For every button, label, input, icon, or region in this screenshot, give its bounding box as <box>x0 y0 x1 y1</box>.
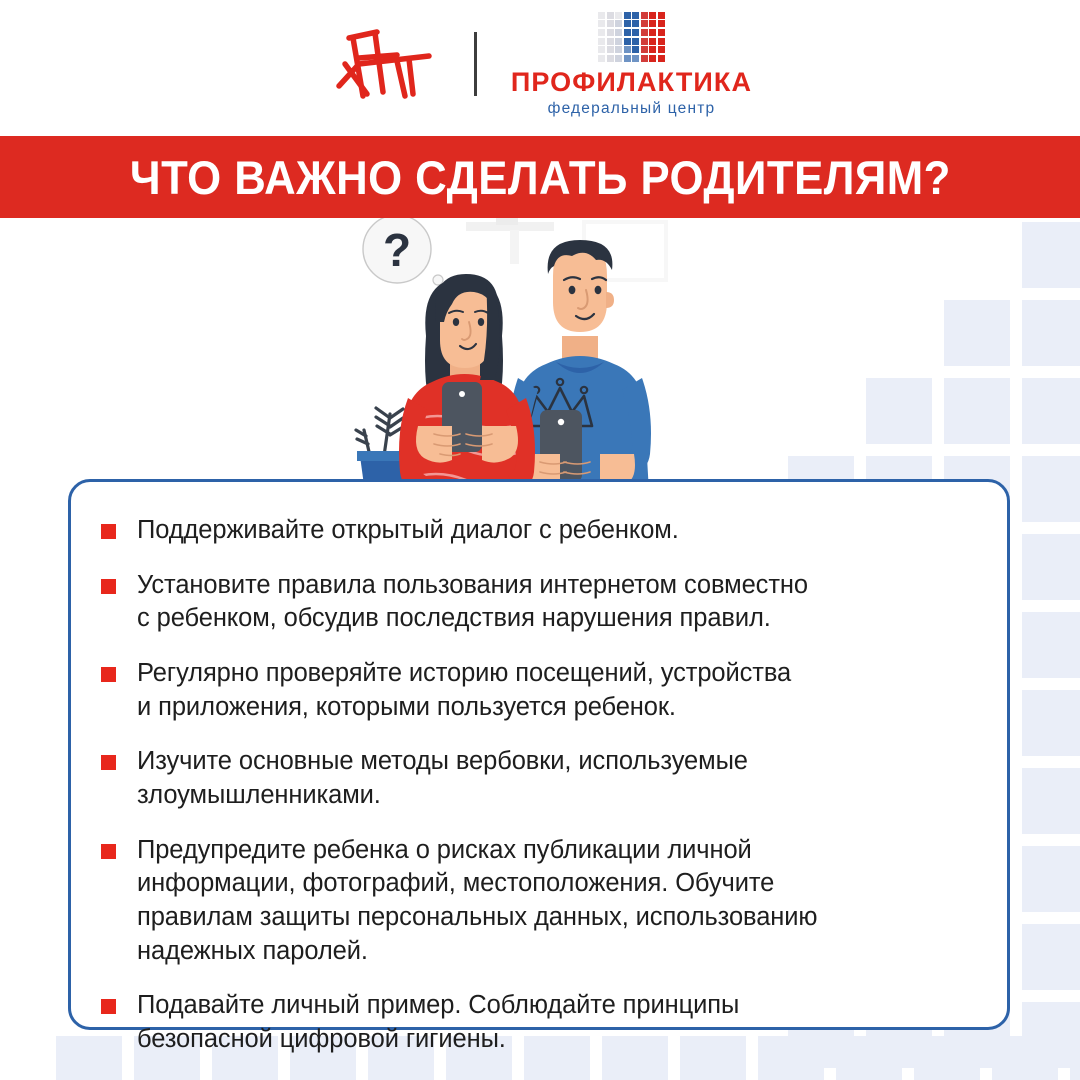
logo-pixel <box>632 38 639 45</box>
logo-pixel <box>649 12 656 19</box>
list-item-text: Подавайте личный пример. Соблюдайте прин… <box>137 989 739 1056</box>
logo-pixel <box>632 29 639 36</box>
logo-pixel <box>658 55 665 62</box>
list-item: Регулярно проверяйте историю посещений, … <box>101 657 953 724</box>
logo-pixel <box>615 20 622 27</box>
recommendations-card: Поддерживайте открытый диалог с ребенком… <box>68 479 1010 1030</box>
background-square <box>1022 768 1080 834</box>
brand-name: ПРОФИЛАКТИКА <box>511 69 752 96</box>
list-item-text: Регулярно проверяйте историю посещений, … <box>137 657 791 724</box>
logo-pixel <box>649 29 656 36</box>
recommendations-list: Поддерживайте открытый диалог с ребенком… <box>101 514 953 1057</box>
list-item-text: Изучите основные методы вербовки, исполь… <box>137 745 748 812</box>
list-item: Предупредите ребенка о рисках публикации… <box>101 834 953 969</box>
logo-pixel <box>632 46 639 53</box>
logo-pixel <box>649 20 656 27</box>
bullet-square-icon <box>101 755 116 770</box>
background-square <box>1022 690 1080 756</box>
logo-pixel <box>632 20 639 27</box>
bullet-square-icon <box>101 999 116 1014</box>
logo-pixel <box>598 12 605 19</box>
logo-pixel <box>658 38 665 45</box>
logo-divider <box>474 32 477 96</box>
logo-pixel <box>658 12 665 19</box>
background-square <box>1070 1036 1080 1080</box>
logo-pixel <box>607 20 614 27</box>
background-square <box>1022 456 1080 522</box>
logo-pixel <box>641 20 648 27</box>
logo-pixel <box>641 55 648 62</box>
logo-pixel <box>615 46 622 53</box>
svg-text:?: ? <box>383 224 411 276</box>
logo-pixel <box>624 12 631 19</box>
logo-pixel <box>624 20 631 27</box>
background-square <box>1022 378 1080 444</box>
background-square <box>992 1036 1058 1080</box>
list-item: Установите правила пользования интернето… <box>101 569 953 636</box>
illustration-couple-with-phones: ? <box>350 218 730 510</box>
list-item: Подавайте личный пример. Соблюдайте прин… <box>101 989 953 1056</box>
question-mark-thought-bubble-icon: ? <box>363 218 443 285</box>
logo-pixel <box>641 46 648 53</box>
logo-pixel <box>658 20 665 27</box>
chair-line-art-icon <box>328 21 448 107</box>
logo-pixel <box>598 29 605 36</box>
title-banner: ЧТО ВАЖНО СДЕЛАТЬ РОДИТЕЛЯМ? <box>0 136 1080 218</box>
infographic-poster: ПРОФИЛАКТИКА федеральный центр ЧТО ВАЖНО… <box>0 0 1080 1080</box>
logo-pixel <box>649 46 656 53</box>
logo-pixel <box>615 38 622 45</box>
logo-pixel <box>607 29 614 36</box>
bullet-square-icon <box>101 844 116 859</box>
logo-pixel <box>641 29 648 36</box>
list-item-text: Установите правила пользования интернето… <box>137 569 808 636</box>
bullet-square-icon <box>101 667 116 682</box>
background-square <box>1022 924 1080 990</box>
logo-pixel <box>624 38 631 45</box>
brand-subtitle: федеральный центр <box>548 101 716 117</box>
pixel-grid-mark-icon <box>598 12 665 62</box>
logo-pixel <box>658 29 665 36</box>
logo-pixel <box>615 55 622 62</box>
list-item: Поддерживайте открытый диалог с ребенком… <box>101 514 953 548</box>
logo-bar: ПРОФИЛАКТИКА федеральный центр <box>0 0 1080 128</box>
background-square <box>1022 300 1080 366</box>
logo-pixel <box>641 12 648 19</box>
background-square <box>944 300 1010 366</box>
logo-pixel <box>615 12 622 19</box>
logo-pixel <box>658 46 665 53</box>
logo-pixel <box>598 38 605 45</box>
logo-pixel <box>632 55 639 62</box>
logo-pixel <box>607 46 614 53</box>
bullet-square-icon <box>101 579 116 594</box>
logo-pixel <box>598 20 605 27</box>
logo-pixel <box>598 46 605 53</box>
logo-pixel <box>649 38 656 45</box>
logo-pixel <box>607 12 614 19</box>
logo-pixel <box>649 55 656 62</box>
list-item-text: Поддерживайте открытый диалог с ребенком… <box>137 514 679 548</box>
logo-pixel <box>615 29 622 36</box>
logo-pixel <box>624 46 631 53</box>
background-square <box>1022 222 1080 288</box>
list-item-text: Предупредите ребенка о рисках публикации… <box>137 834 817 969</box>
logo-pixel <box>632 12 639 19</box>
background-square <box>866 378 932 444</box>
background-square <box>944 378 1010 444</box>
background-square <box>1022 534 1080 600</box>
logo-pixel <box>624 29 631 36</box>
logo-pixel <box>607 55 614 62</box>
bullet-square-icon <box>101 524 116 539</box>
logo-pixel <box>607 38 614 45</box>
list-item: Изучите основные методы вербовки, исполь… <box>101 745 953 812</box>
background-square <box>1022 846 1080 912</box>
page-title: ЧТО ВАЖНО СДЕЛАТЬ РОДИТЕЛЯМ? <box>130 150 951 205</box>
logo-pixel <box>598 55 605 62</box>
logo-pixel <box>641 38 648 45</box>
brand-lockup: ПРОФИЛАКТИКА федеральный центр <box>511 12 752 116</box>
background-square <box>1022 612 1080 678</box>
logo-pixel <box>624 55 631 62</box>
